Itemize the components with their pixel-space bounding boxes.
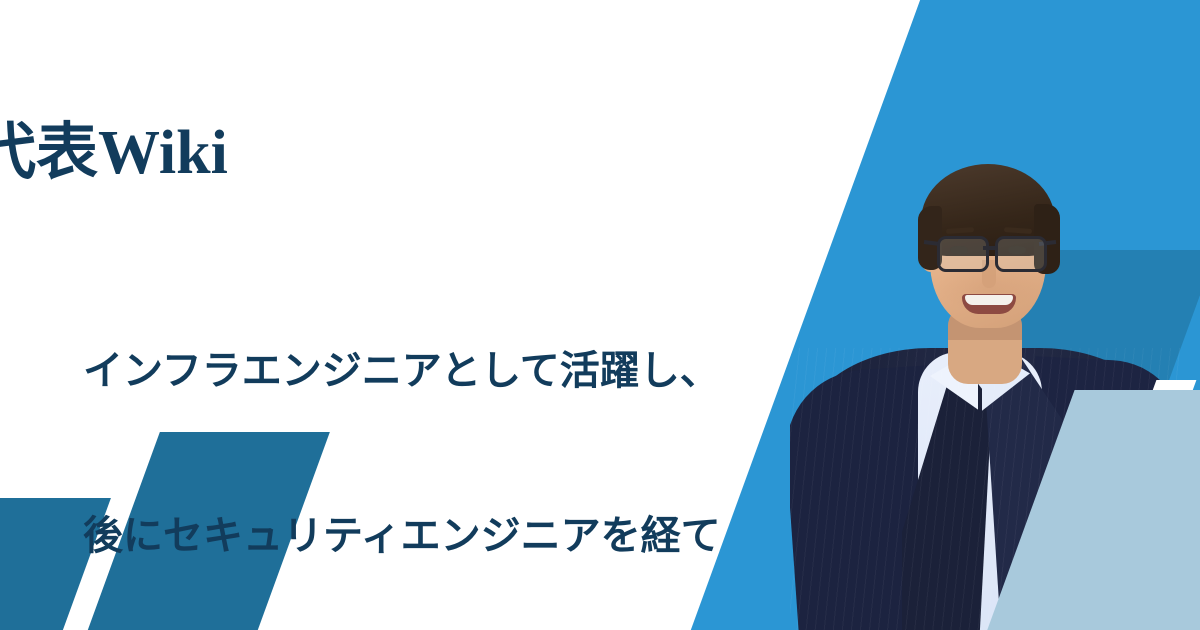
glasses-lens-left <box>937 236 989 272</box>
glasses-lens-right <box>995 236 1047 272</box>
page-title: 代表Wiki <box>0 122 228 184</box>
subtitle-line-1: インフラエンジニアとして活躍し、 <box>83 344 721 399</box>
portrait-photo <box>790 120 1180 630</box>
glasses-bridge <box>983 246 995 250</box>
suit-stripe-texture <box>790 348 1180 630</box>
banner-canvas: 代表Wiki インフラエンジニアとして活躍し、 後にセキュリティエンジニアを経て… <box>0 0 1200 630</box>
page-subtitle: インフラエンジニアとして活躍し、 後にセキュリティエンジニアを経て 起業したこれ… <box>83 234 721 630</box>
subtitle-line-2: 後にセキュリティエンジニアを経て <box>83 509 721 564</box>
teeth <box>965 295 1013 305</box>
